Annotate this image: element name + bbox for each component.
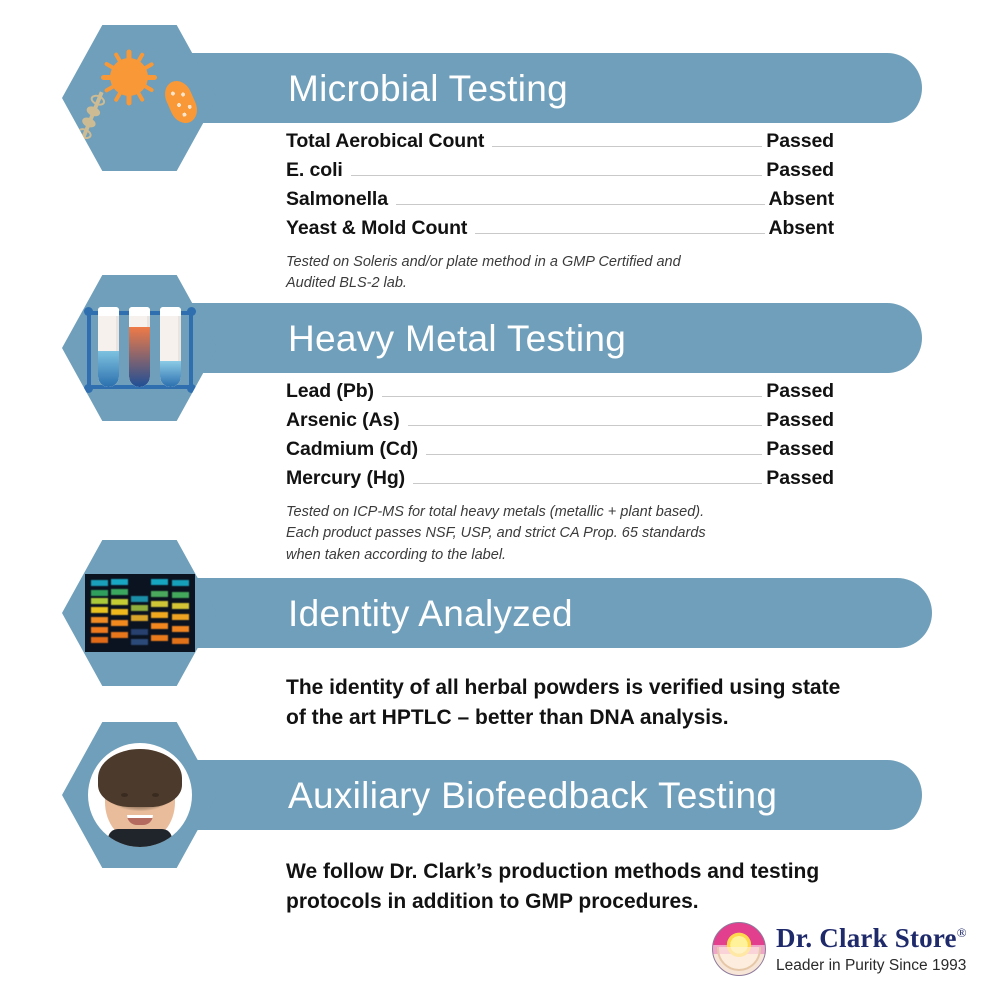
bacteria-rod-glyph <box>160 77 202 128</box>
result-row: Lead (Pb) Passed <box>286 380 834 409</box>
section-title-heavy-metal: Heavy Metal Testing <box>288 320 626 357</box>
section-paragraph-identity: The identity of all herbal powders is ve… <box>286 673 906 733</box>
test-tube-2 <box>129 307 150 387</box>
result-row: Cadmium (Cd) Passed <box>286 438 834 467</box>
paragraph-line: protocols in addition to GMP procedures. <box>286 887 906 917</box>
section-note-heavy-metal: Tested on ICP-MS for total heavy metals … <box>286 502 846 566</box>
collar-shape <box>108 829 172 847</box>
section-banner-identity: Identity Analyzed <box>150 578 932 648</box>
result-label: Arsenic (As) <box>286 409 400 432</box>
results-list-heavy-metal: Lead (Pb) Passed Arsenic (As) Passed Cad… <box>286 380 834 496</box>
section-title-biofeedback: Auxiliary Biofeedback Testing <box>288 777 777 814</box>
result-value: Passed <box>766 159 834 182</box>
dna-gel-icon <box>85 574 195 652</box>
eye-left <box>121 793 128 797</box>
rack-leg-left <box>87 311 91 389</box>
hexagon-badge-identity <box>62 540 217 686</box>
brand-logo[interactable]: Dr. Clark Store® Leader in Purity Since … <box>712 922 967 976</box>
paragraph-line: The identity of all herbal powders is ve… <box>286 673 906 703</box>
leader-line <box>396 204 765 205</box>
result-label: E. coli <box>286 159 343 182</box>
result-row: Salmonella Absent <box>286 188 834 217</box>
brand-name: Dr. Clark Store® <box>776 925 967 952</box>
result-value: Absent <box>769 188 835 211</box>
leader-line <box>426 454 762 455</box>
hexagon-badge-heavy-metal <box>62 275 217 421</box>
leader-line <box>413 483 762 484</box>
result-value: Absent <box>769 217 835 240</box>
result-label: Yeast & Mold Count <box>286 217 467 240</box>
note-line: when taken according to the label. <box>286 545 846 566</box>
note-line: Tested on Soleris and/or plate method in… <box>286 252 846 273</box>
paragraph-line: We follow Dr. Clark’s production methods… <box>286 857 906 887</box>
result-value: Passed <box>766 130 834 153</box>
result-row: E. coli Passed <box>286 159 834 188</box>
test-tube-3 <box>160 307 181 387</box>
test-tube-1 <box>98 307 119 387</box>
result-row: Yeast & Mold Count Absent <box>286 217 834 246</box>
infographic-page: Microbial Testing Total Aerobical Count <box>0 0 1000 1000</box>
note-line: Tested on ICP-MS for total heavy metals … <box>286 502 846 523</box>
section-title-identity: Identity Analyzed <box>288 595 573 632</box>
section-banner-heavy-metal: Heavy Metal Testing <box>150 303 922 373</box>
result-value: Passed <box>766 409 834 432</box>
chromosome-glyph <box>74 89 107 143</box>
result-row: Arsenic (As) Passed <box>286 409 834 438</box>
brand-text-block: Dr. Clark Store® Leader in Purity Since … <box>776 925 967 974</box>
section-banner-microbial: Microbial Testing <box>150 53 922 123</box>
result-value: Passed <box>766 467 834 490</box>
note-line: Each product passes NSF, USP, and strict… <box>286 523 846 544</box>
result-value: Passed <box>766 438 834 461</box>
test-tubes-icon <box>84 301 196 395</box>
brand-name-text: Dr. Clark Store <box>776 923 957 953</box>
hexagon-badge-biofeedback <box>62 722 217 868</box>
brand-tagline: Leader in Purity Since 1993 <box>776 958 967 974</box>
section-banner-biofeedback: Auxiliary Biofeedback Testing <box>150 760 922 830</box>
registered-mark-icon: ® <box>957 925 967 940</box>
result-row: Total Aerobical Count Passed <box>286 130 834 159</box>
eye-right <box>152 793 159 797</box>
leader-line <box>475 233 764 234</box>
leader-line <box>408 425 763 426</box>
note-line: Audited BLS-2 lab. <box>286 273 846 294</box>
portrait-icon <box>88 743 192 847</box>
result-label: Lead (Pb) <box>286 380 374 403</box>
virus-glyph <box>110 58 148 96</box>
result-label: Salmonella <box>286 188 388 211</box>
rack-leg-right <box>189 311 193 389</box>
section-title-microbial: Microbial Testing <box>288 70 568 107</box>
sunrise-hands-logo-icon <box>712 922 766 976</box>
hexagon-badge-microbial <box>62 25 217 171</box>
section-paragraph-biofeedback: We follow Dr. Clark’s production methods… <box>286 857 906 917</box>
section-note-microbial: Tested on Soleris and/or plate method in… <box>286 252 846 295</box>
leader-line <box>382 396 762 397</box>
result-row: Mercury (Hg) Passed <box>286 467 834 496</box>
result-label: Cadmium (Cd) <box>286 438 418 461</box>
leader-line <box>492 146 762 147</box>
hair-volume-shape <box>97 769 183 811</box>
paragraph-line: of the art HPTLC – better than DNA analy… <box>286 703 906 733</box>
results-list-microbial: Total Aerobical Count Passed E. coli Pas… <box>286 130 834 246</box>
result-label: Total Aerobical Count <box>286 130 484 153</box>
result-value: Passed <box>766 380 834 403</box>
microbes-icon <box>84 50 196 146</box>
leader-line <box>351 175 763 176</box>
result-label: Mercury (Hg) <box>286 467 405 490</box>
